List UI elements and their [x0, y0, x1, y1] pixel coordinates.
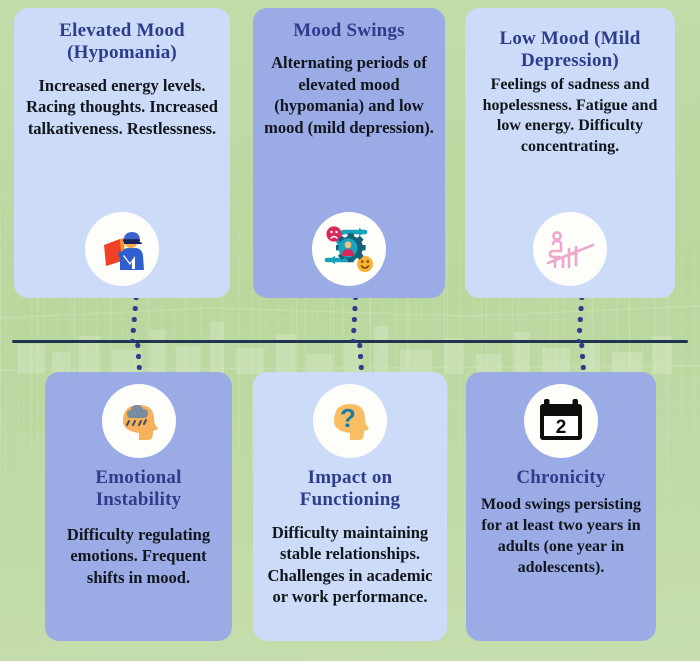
- card-title: Emotional Instability: [55, 467, 222, 512]
- card-body: Feelings of sadness and hopelessness. Fa…: [475, 75, 665, 158]
- card-title: Impact on Functioning: [263, 467, 437, 512]
- card-chronicity[interactable]: 2 Chronicity Mood swings persisting for …: [466, 372, 656, 641]
- head-with-rain-cloud-icon: [102, 384, 176, 458]
- card-body: Difficulty regulating emotions. Frequent…: [55, 524, 222, 588]
- connector-dotted-4: [135, 340, 142, 372]
- calendar-day-label: 2: [556, 417, 567, 438]
- card-body: Increased energy levels. Racing thoughts…: [24, 75, 220, 139]
- card-impact-on-functioning[interactable]: ? Impact on Functioning Difficulty maint…: [253, 372, 447, 641]
- card-title: Chronicity: [516, 467, 605, 489]
- person-slumped-at-desk-icon: [533, 212, 607, 286]
- connector-dotted-6: [579, 340, 586, 372]
- card-mood-swings[interactable]: Mood Swings Alternating periods of eleva…: [253, 8, 445, 298]
- card-body: Mood swings persisting for at least two …: [476, 495, 646, 578]
- calendar-two-icon: 2: [524, 384, 598, 458]
- connector-dotted-1: [130, 292, 139, 342]
- head-with-question-mark-icon: ?: [313, 384, 387, 458]
- connector-dotted-3: [576, 292, 584, 342]
- card-title: Low Mood (Mild Depression): [475, 28, 665, 73]
- card-body: Alternating periods of elevated mood (hy…: [263, 52, 435, 138]
- card-emotional-instability[interactable]: Emotional Instability Difficulty regulat…: [45, 372, 232, 641]
- mood-cycle-icon: [312, 212, 386, 286]
- infographic-canvas: Elevated Mood (Hypomania) Increased ener…: [0, 0, 700, 661]
- card-title: Mood Swings: [293, 20, 404, 42]
- connector-dotted-5: [357, 340, 364, 372]
- person-reading-book-icon: [85, 212, 159, 286]
- card-title: Elevated Mood (Hypomania): [24, 20, 220, 65]
- connector-dotted-2: [351, 292, 359, 342]
- svg-text:?: ?: [340, 403, 356, 433]
- card-low-mood[interactable]: Low Mood (Mild Depression) Feelings of s…: [465, 8, 675, 298]
- card-body: Difficulty maintaining stable relationsh…: [263, 522, 437, 608]
- card-elevated-mood[interactable]: Elevated Mood (Hypomania) Increased ener…: [14, 8, 230, 298]
